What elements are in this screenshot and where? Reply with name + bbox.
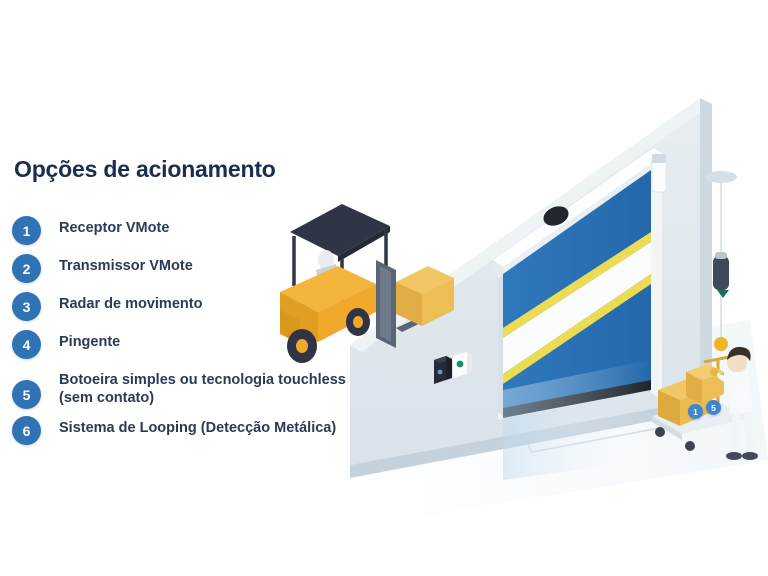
door-left-edge <box>498 274 503 416</box>
worker-leg-left <box>732 412 740 454</box>
wall-right-face <box>700 98 712 404</box>
option-badge-5: 5 <box>12 380 41 409</box>
forklift-wheel-front-hub <box>296 339 308 353</box>
forklift-wheel-rear-hub <box>353 316 363 328</box>
page-root: Opções de acionamento 1 Receptor VMote 2… <box>0 0 768 576</box>
vmote-transmitter <box>710 368 718 376</box>
cart-wheel-right <box>685 441 695 451</box>
option-badge-3: 3 <box>12 292 41 321</box>
worker-shoe-left <box>726 452 742 460</box>
option-badge-4: 4 <box>12 330 41 359</box>
forklift-canopy <box>290 204 390 256</box>
door-motor-box <box>652 160 666 192</box>
option-badge-6: 6 <box>12 416 41 445</box>
marker-5-touchless-button: 5 <box>706 400 721 415</box>
worker-shoe-right <box>742 452 758 460</box>
pendant-switch-tip <box>717 290 729 298</box>
option-badge-1: 1 <box>12 216 41 245</box>
vmote-receiver-led <box>438 370 443 375</box>
vmote-receiver-side <box>446 356 452 380</box>
touchless-button-side <box>467 352 472 374</box>
forklift-mast-inner <box>380 266 391 342</box>
option-badge-2: 2 <box>12 254 41 283</box>
page-title: Opções de acionamento <box>14 156 276 183</box>
warehouse-illustration: 1 5 3 4 2 6 <box>250 60 768 520</box>
pendant-switch-cap <box>715 252 727 259</box>
cart-wheel-left <box>655 427 665 437</box>
touchless-button-indicator <box>457 361 464 368</box>
pendant-pull-ball <box>714 337 728 351</box>
door-side-track <box>650 156 662 400</box>
scene-svg <box>250 60 768 520</box>
door-motor-cap <box>652 154 666 163</box>
marker-1-vmote-receiver: 1 <box>688 404 703 419</box>
pendant-switch-body <box>713 256 729 290</box>
